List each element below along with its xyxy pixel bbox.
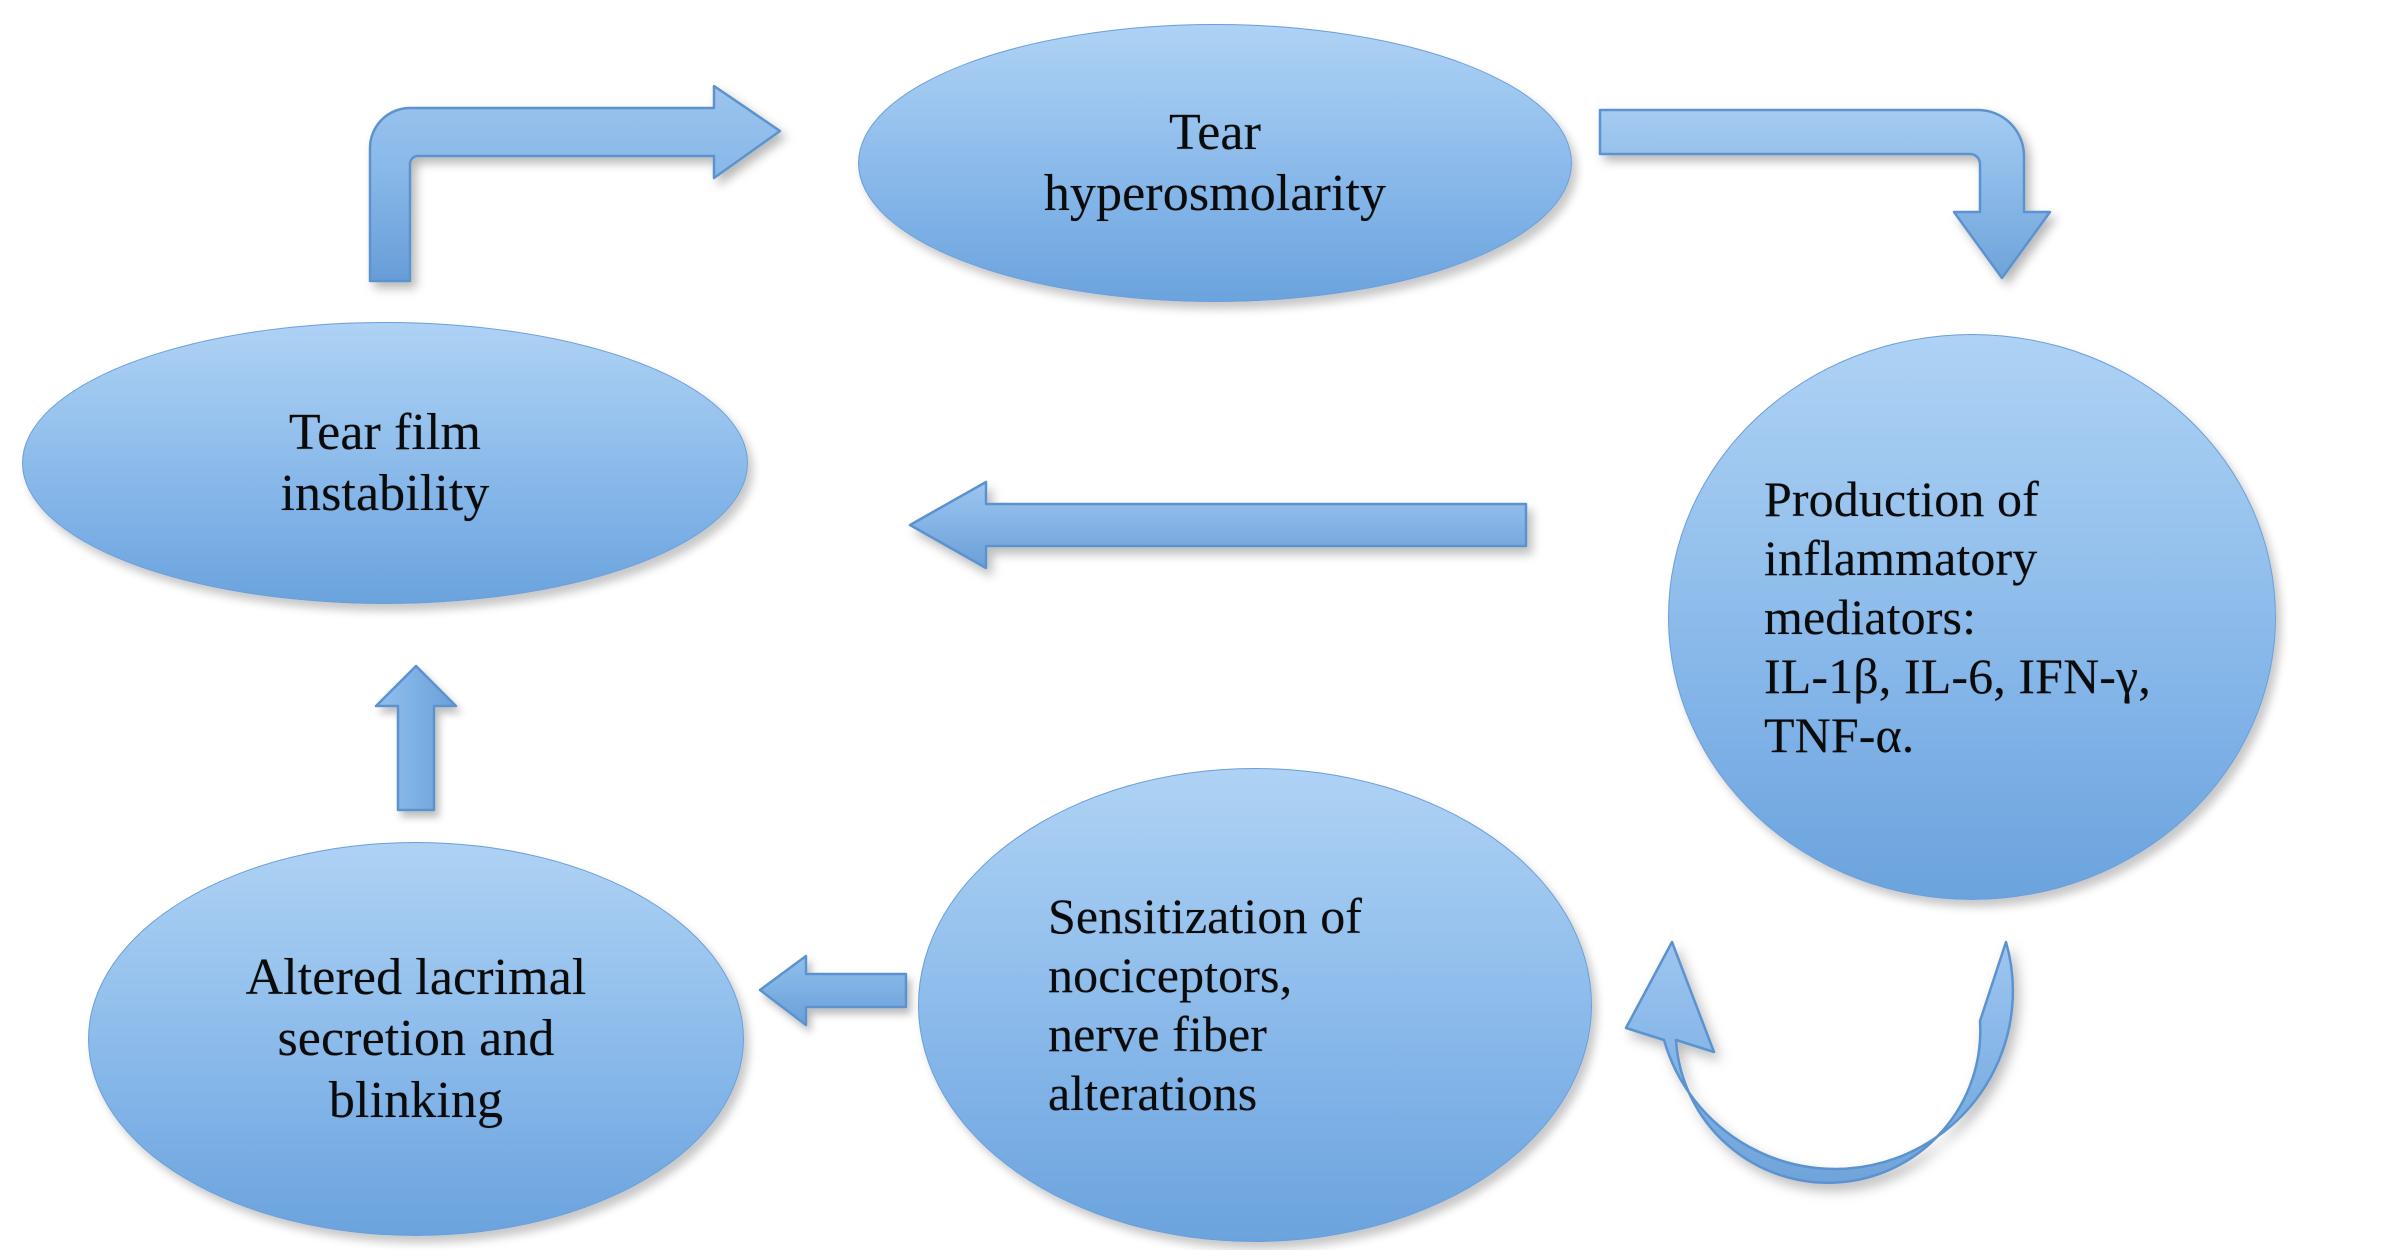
arrow-curved-loop-icon [1586,928,2166,1228]
node-label: Altered lacrimal secretion and blinking [246,947,587,1131]
node-altered-lacrimal-secretion: Altered lacrimal secretion and blinking [88,842,744,1236]
node-label: Sensitization of nociceptors, nerve fibe… [1048,887,1488,1123]
node-inflammatory-mediators: Production of inflammatory mediators: IL… [1668,334,2276,900]
arrow-elbow-right-down-icon [1598,96,2068,296]
node-sensitization-nociceptors: Sensitization of nociceptors, nerve fibe… [918,768,1592,1242]
arrow-left-long-icon [908,478,1528,578]
node-label: Production of inflammatory mediators: IL… [1764,470,2194,765]
arrow-elbow-up-right-icon [366,86,786,286]
node-label: Tear hyperosmolarity [1044,102,1386,225]
arrow-up-small-icon [372,664,464,814]
arrow-left-small-icon [758,952,908,1030]
node-label: Tear film instability [280,402,489,525]
node-tear-film-instability: Tear film instability [22,322,748,604]
diagram-canvas: Tear hyperosmolarity Production of infla… [0,0,2386,1250]
node-tear-hyperosmolarity: Tear hyperosmolarity [858,24,1572,302]
